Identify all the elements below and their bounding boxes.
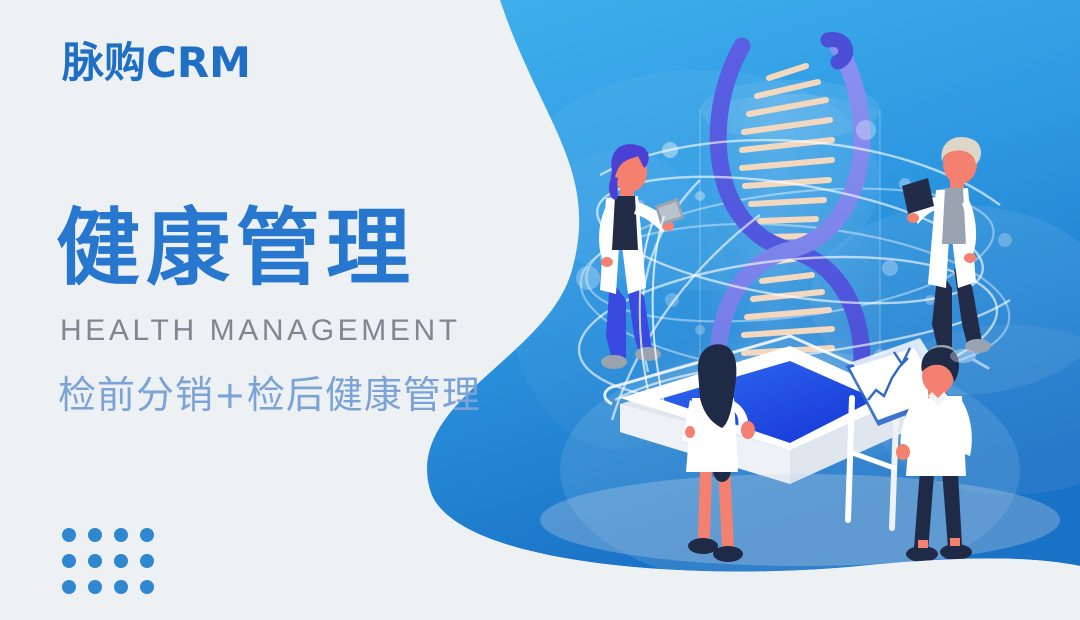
grid-dot [62, 580, 76, 594]
floor-shadow [540, 474, 1060, 566]
grid-dot [62, 528, 76, 542]
grid-dot [140, 554, 154, 568]
grid-dot [62, 554, 76, 568]
grid-dot [88, 528, 102, 542]
grid-dot [88, 580, 102, 594]
health-management-banner: 脉购CRM 健康管理 HEALTH MANAGEMENT 检前分销+检后健康管理 [0, 0, 1080, 620]
grid-dot [114, 554, 128, 568]
grid-dot [140, 528, 154, 542]
page-subtitle-english: HEALTH MANAGEMENT [60, 316, 461, 346]
background-art [0, 0, 1080, 620]
dot-grid-decoration [62, 528, 154, 594]
page-title: 健康管理 [56, 206, 416, 290]
grid-dot [114, 580, 128, 594]
grid-dot [140, 580, 154, 594]
brand-logo[interactable]: 脉购CRM [62, 42, 251, 84]
page-subtitle-chinese: 检前分销+检后健康管理 [58, 376, 481, 414]
grid-dot [88, 554, 102, 568]
grid-dot [114, 528, 128, 542]
